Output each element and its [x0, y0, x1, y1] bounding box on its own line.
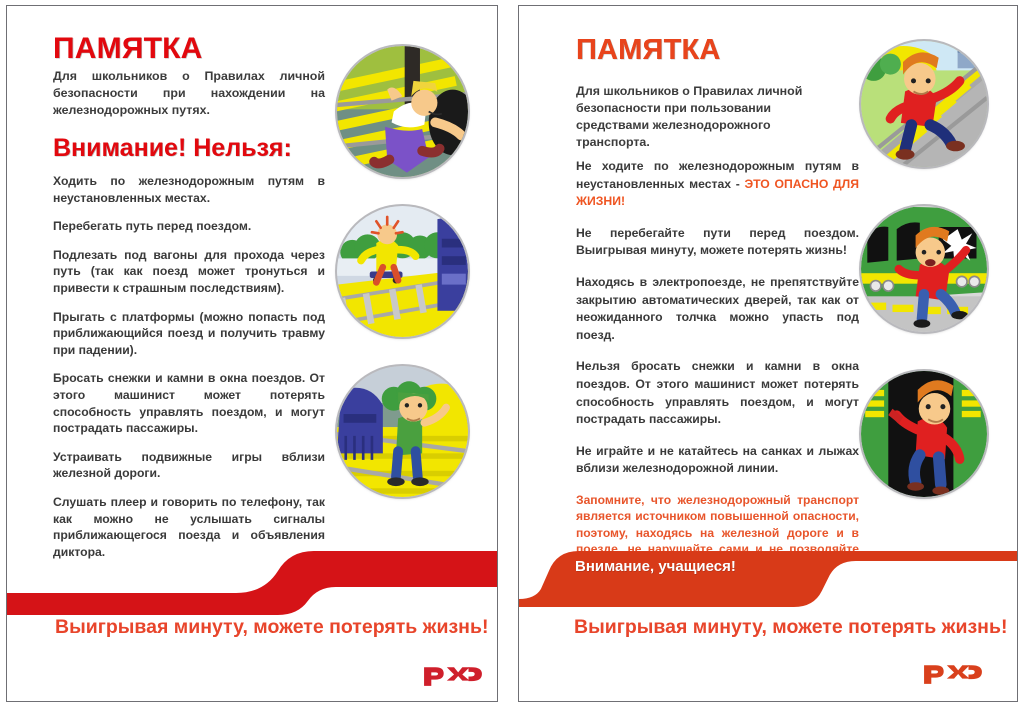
illustration-boy-falling-on-tracks [337, 46, 468, 177]
safety-rules-list: Не ходите по железнодорожным путям в неу… [576, 158, 859, 590]
prohibition-item: Бросать снежки и камни в окна поездов. О… [53, 370, 325, 436]
illustration-boy-on-skateboard-near-train [337, 206, 468, 337]
leaflet-spread: ПАМЯТКА Для школьников о Правилах личной… [0, 0, 1024, 707]
illustration-boy-standing-on-tracks [337, 366, 468, 497]
safety-rule-item: Нельзя бросать снежки и камни в окна пое… [576, 358, 859, 428]
illustration-boy-in-train-doorway [861, 371, 987, 497]
page-subtitle-left: Для школьников о Правилах личной безопас… [53, 68, 325, 119]
page-left-content: ПАМЯТКА Для школьников о Правилах личной… [7, 6, 497, 701]
banner-label-right: Внимание, учащиеся! [575, 558, 736, 575]
page-subtitle-right: Для школьников о Правилах личной безопас… [576, 83, 826, 151]
safety-rule-item: Не играйте и не катайтесь на санках и лы… [576, 443, 859, 478]
page-right: ПАМЯТКА Для школьников о Правилах личной… [518, 5, 1018, 702]
rzd-logo-right [922, 659, 984, 689]
tagline-left: Выигрывая минуту, можете потерять жизнь! [55, 616, 488, 639]
prohibition-item: Устраивать подвижные игры вблизи железно… [53, 449, 325, 482]
final-warning: Запомните, что железнодорожный транспорт… [576, 492, 859, 590]
illustration-boy-walking-along-rails [861, 41, 987, 167]
illustration-boy-throwing-stone-at-train [861, 206, 987, 332]
tagline-right: Выигрывая минуту, можете потерять жизнь! [574, 616, 1007, 639]
safety-rule-item: Находясь в электропоезде, не препятствуй… [576, 274, 859, 344]
page-left: ПАМЯТКА Для школьников о Правилах личной… [6, 5, 498, 702]
safety-rule-item: Не перебегайте пути перед поездом. Выигр… [576, 225, 859, 260]
prohibition-item: Ходить по железнодорожным путям в неуста… [53, 173, 325, 206]
prohibition-item: Перебегать путь перед поездом. [53, 218, 325, 235]
alert-heading-left: Внимание! Нельзя: [53, 134, 292, 163]
safety-rule-item: Не ходите по железнодорожным путям в неу… [576, 158, 859, 211]
rzd-logo-left [422, 661, 484, 691]
prohibition-item: Прыгать с платформы (можно попасть под п… [53, 309, 325, 359]
prohibition-list: Ходить по железнодорожным путям в неуста… [53, 173, 325, 572]
prohibition-item: Подлезать под вагоны для прохода через п… [53, 247, 325, 297]
final-warning-caps: ПРАВИЛА ЛИЧНОЙ БЕЗОПАСНОСТИ! [576, 574, 859, 590]
page-title-right: ПАМЯТКА [576, 34, 721, 67]
prohibition-item: Слушать плеер и говорить по телефону, та… [53, 494, 325, 560]
page-title-left: ПАМЯТКА [53, 32, 202, 66]
page-right-content: ПАМЯТКА Для школьников о Правилах личной… [519, 6, 1017, 701]
